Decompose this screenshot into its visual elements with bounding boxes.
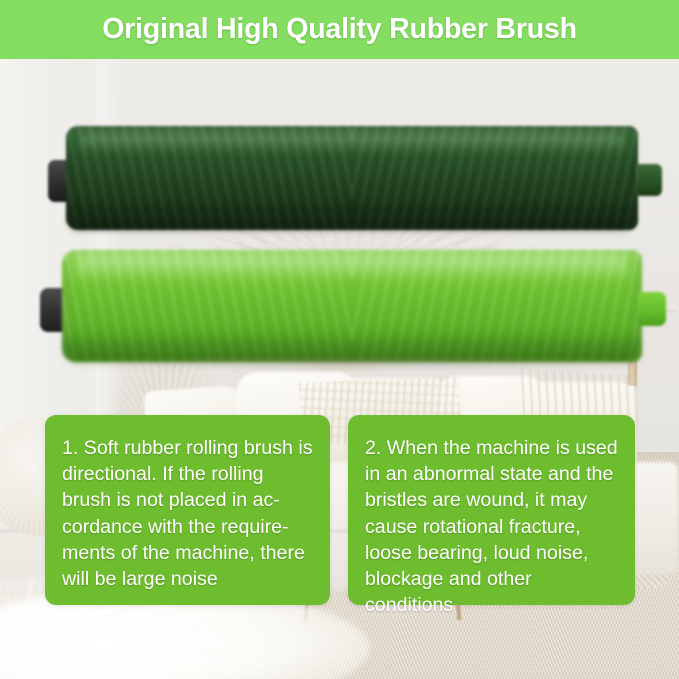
- brush-highlight-dark: [78, 134, 626, 154]
- product-image: Original High Quality Rubber Brush 1. So…: [0, 0, 679, 679]
- dark-green-rubber-roller-brush: [48, 126, 638, 230]
- brush-shadow-dark: [68, 200, 634, 230]
- info-card-2: 2. When the machine is used in an abnorm…: [348, 415, 635, 605]
- brush-axle-dark: [636, 164, 662, 196]
- light-green-rubber-roller-brush: [40, 250, 640, 362]
- brush-axle-light: [638, 292, 666, 326]
- info-card-1-text: 1. Soft rubber rolling brush is directio…: [62, 435, 315, 592]
- header-bar: Original High Quality Rubber Brush: [0, 0, 679, 59]
- brush-highlight-light: [74, 256, 630, 282]
- page-title: Original High Quality Rubber Brush: [102, 13, 577, 46]
- wall-panel-left: [0, 0, 100, 470]
- info-card-1: 1. Soft rubber rolling brush is directio…: [45, 415, 330, 605]
- info-card-2-text: 2. When the machine is used in an abnorm…: [365, 435, 620, 618]
- brush-drop-shadow-light: [80, 356, 640, 372]
